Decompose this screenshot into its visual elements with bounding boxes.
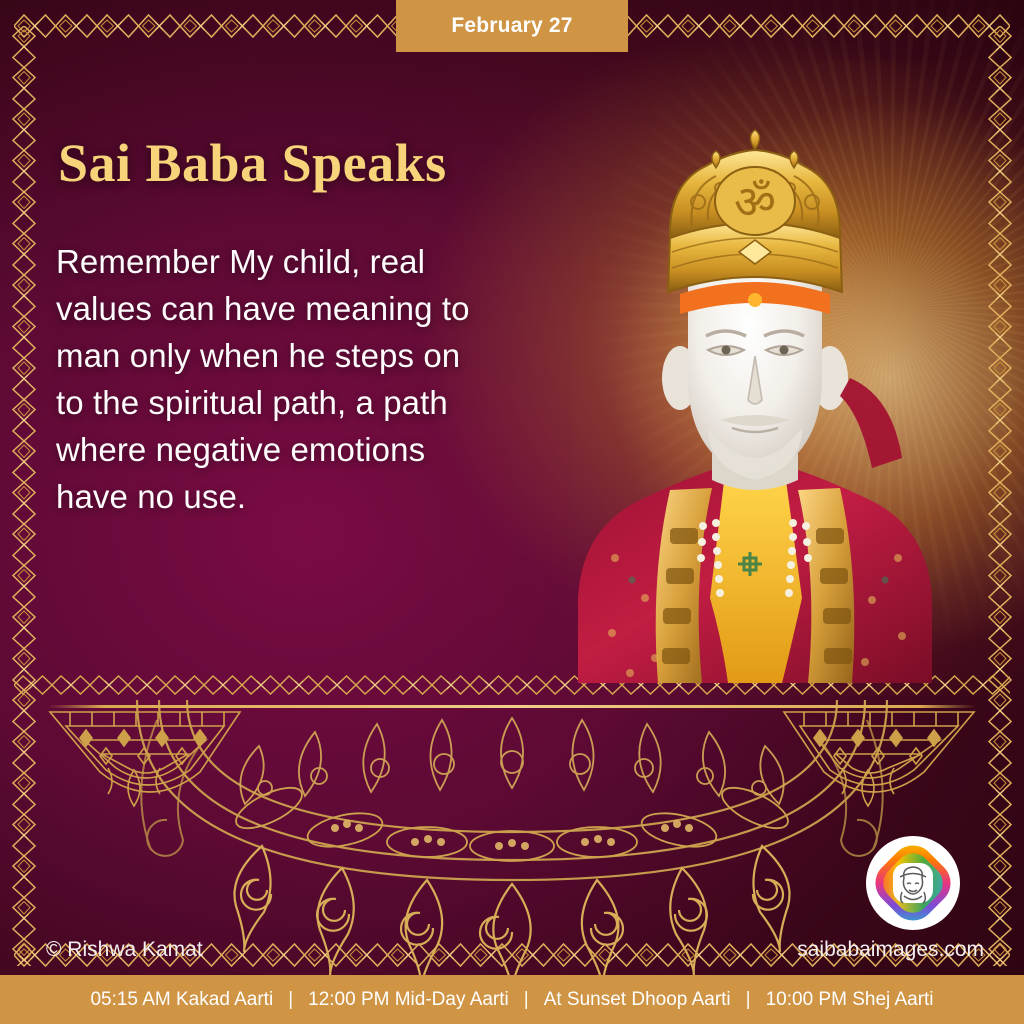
quote-line: values can have meaning to [56,285,536,332]
sai-baba-statue-image: ॐ [520,128,990,683]
timing-separator: | [731,989,766,1011]
aarti-timing-item: 05:15 AM Kakad Aarti [90,989,273,1011]
timing-separator: | [273,989,308,1011]
aarti-timing-item: At Sunset Dhoop Aarti [544,989,731,1011]
aarti-timing-item: 10:00 PM Shej Aarti [766,989,934,1011]
sai-baba-quote-poster: February 27 Sai Baba Speaks Remember My … [0,0,1024,1024]
quote-line: where negative emotions [56,426,536,473]
lace-ornament-left-icon [40,708,255,828]
quote-line: Remember My child, real [56,238,536,285]
border-chain-left-icon [10,26,38,966]
lace-ornament-right-icon [769,708,984,828]
copyright-credit: © Rishwa Kamat [46,938,203,962]
website-label: saibabaimages.com [797,938,984,962]
border-chain-right-icon [986,26,1014,966]
quote-line: man only when he steps on [56,332,536,379]
aarti-timings-bar: 05:15 AM Kakad Aarti | 12:00 PM Mid-Day … [0,975,1024,1024]
timing-separator: | [509,989,544,1011]
saibaba-logo-icon[interactable] [864,834,962,932]
date-badge: February 27 [396,0,628,52]
aarti-timing-item: 12:00 PM Mid-Day Aarti [308,989,509,1011]
page-title: Sai Baba Speaks [58,132,447,194]
om-symbol-icon: ॐ [734,175,776,229]
quote-text: Remember My child, real values can have … [56,238,536,520]
quote-line: have no use. [56,473,536,520]
quote-line: to the spiritual path, a path [56,379,536,426]
date-badge-label: February 27 [451,14,572,38]
